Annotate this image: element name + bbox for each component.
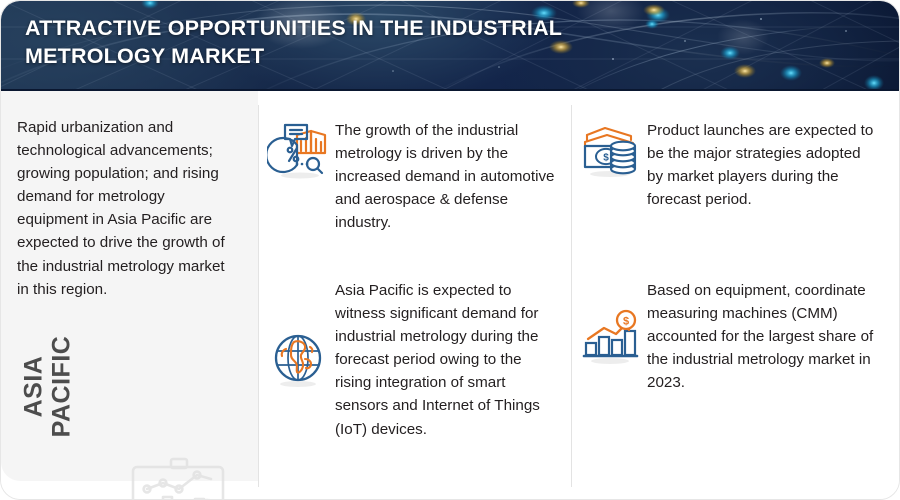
region-panel: Rapid urbanization and technological adv… [1,91,258,481]
insight-item-4: $ Based on equipment, coordinate measuri… [579,279,891,394]
header-banner: ATTRACTIVE OPPORTUNITIES IN THE INDUSTRI… [1,1,900,91]
insight-text-1: The growth of the industrial metrology i… [335,117,557,234]
svg-text:$: $ [623,315,629,327]
svg-text:$: $ [603,153,609,164]
insight-item-1: The growth of the industrial metrology i… [267,117,557,234]
region-description: Rapid urbanization and technological adv… [17,116,232,301]
insight-text-2: Product launches are expected to be the … [647,117,879,211]
content-area: Rapid urbanization and technological adv… [1,91,900,500]
insight-item-2: $ Product launches are expected to be th… [579,117,889,211]
insight-item-3: Asia Pacific is expected to witness sign… [267,279,559,441]
insight-text-4: Based on equipment, coordinate measuring… [647,279,881,394]
chart-board-magnifier-icon [119,449,243,500]
page-title: ATTRACTIVE OPPORTUNITIES IN THE INDUSTRI… [25,15,665,71]
column-divider-2 [571,105,572,487]
money-cash-coins-icon: $ [579,119,641,181]
market-analytics-icon [267,119,329,181]
revenue-growth-chart-icon: $ [579,306,641,368]
column-divider-1 [258,105,259,487]
insight-text-3: Asia Pacific is expected to witness sign… [335,279,559,441]
globe-icon [267,329,329,391]
region-name-label: ASIAPACIFIC [21,302,76,472]
infographic-card: ATTRACTIVE OPPORTUNITIES IN THE INDUSTRI… [0,0,900,500]
